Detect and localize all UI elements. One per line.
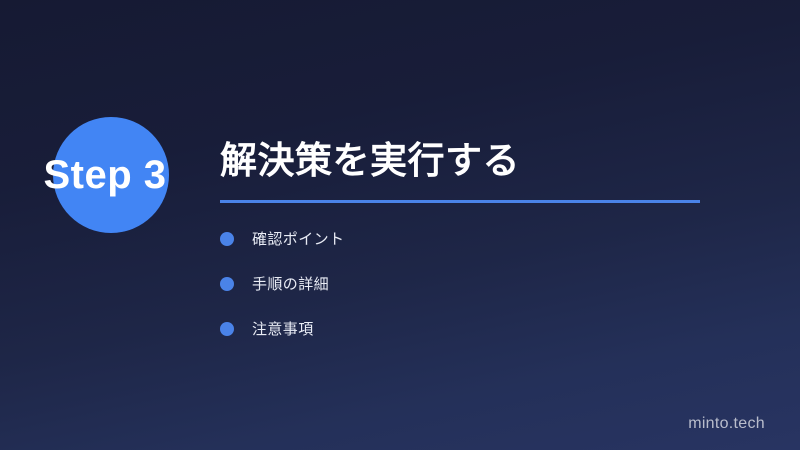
list-item-label: 注意事項 xyxy=(252,319,314,340)
list-item-label: 手順の詳細 xyxy=(252,274,329,295)
bullet-dot-icon xyxy=(220,322,234,336)
bullet-dot-icon xyxy=(220,277,234,291)
slide-title: 解決策を実行する xyxy=(220,140,760,183)
bullet-dot-icon xyxy=(220,232,234,246)
slide-content: 解決策を実行する 確認ポイント 手順の詳細 注意事項 xyxy=(220,140,760,356)
step-badge: Step 3 xyxy=(0,117,210,233)
list-item: 確認ポイント xyxy=(220,229,760,250)
list-item: 注意事項 xyxy=(220,319,760,340)
list-item-label: 確認ポイント xyxy=(252,229,344,250)
title-divider xyxy=(220,200,700,203)
presentation-slide: Step 3 解決策を実行する 確認ポイント 手順の詳細 注意事項 minto.… xyxy=(0,0,800,450)
list-item: 手順の詳細 xyxy=(220,274,760,295)
step-number-label: Step 3 xyxy=(0,117,210,233)
watermark-brand: minto.tech xyxy=(688,415,765,433)
bullet-list: 確認ポイント 手順の詳細 注意事項 xyxy=(220,229,760,340)
